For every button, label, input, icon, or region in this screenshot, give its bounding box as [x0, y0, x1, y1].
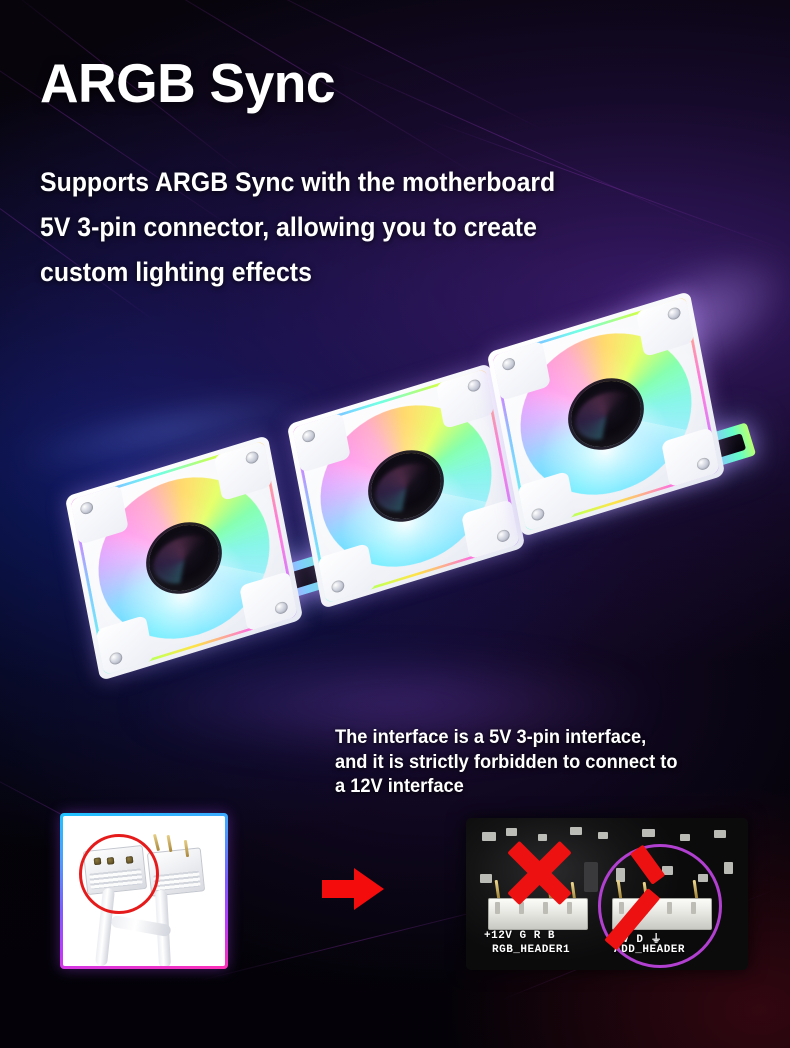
pcb-component: [724, 862, 733, 874]
screw-icon: [467, 378, 482, 393]
screw-icon: [696, 456, 711, 471]
red-check-icon: [626, 826, 696, 892]
connector-photo-card: [60, 813, 228, 969]
pcb-component: [480, 874, 492, 883]
screw-icon: [109, 651, 124, 666]
screw-icon: [531, 507, 546, 522]
description-block: Supports ARGB Sync with the motherboard …: [40, 160, 684, 295]
motherboard-photo: +12V G R B RGB_HEADER1 +5V D ⏚ ADD_HEADE…: [466, 818, 748, 970]
screw-icon: [245, 450, 260, 465]
page-title: ARGB Sync: [40, 52, 335, 114]
screw-icon: [501, 357, 516, 372]
connector-photo: [63, 816, 225, 966]
header-slot: [495, 902, 500, 914]
pcb-component: [714, 830, 726, 838]
arrow-shaft: [322, 880, 358, 898]
pcb-component: [584, 862, 598, 892]
rgb-header-pin-labels: +12V G R B: [484, 930, 555, 942]
pcb-component: [570, 827, 582, 835]
pcb-component: [598, 832, 608, 839]
product-feature-page: ARGB Sync Supports ARGB Sync with the mo…: [0, 0, 790, 1048]
fan-assembly-image: [0, 280, 790, 720]
warning-line-1: The interface is a 5V 3-pin interface,: [335, 726, 678, 751]
fan-middle: [287, 363, 526, 609]
connector-ribs: [153, 871, 200, 892]
screw-icon: [667, 306, 682, 321]
red-x-icon: [502, 836, 576, 910]
description-line-1: Supports ARGB Sync with the motherboard: [40, 160, 684, 205]
screw-icon: [331, 579, 346, 594]
connector-pin: [153, 834, 160, 851]
pcb-component: [506, 828, 517, 836]
warning-text-block: The interface is a 5V 3-pin interface, a…: [335, 726, 678, 800]
highlight-circle: [79, 834, 159, 914]
fan-left: [65, 435, 304, 681]
arrow-head: [354, 868, 384, 910]
right-arrow-icon: [322, 868, 384, 910]
pcb-component: [482, 832, 496, 841]
screw-icon: [301, 429, 316, 444]
rgb-header-name: RGB_HEADER1: [492, 944, 570, 956]
warning-line-2: and it is strictly forbidden to connect …: [335, 751, 678, 776]
fan-right: [487, 291, 726, 537]
screw-icon: [79, 501, 94, 516]
connector-pin: [167, 835, 173, 852]
description-line-2: 5V 3-pin connector, allowing you to crea…: [40, 205, 684, 250]
warning-line-3: a 12V interface: [335, 775, 678, 800]
screw-icon: [274, 600, 289, 615]
screw-icon: [496, 528, 511, 543]
